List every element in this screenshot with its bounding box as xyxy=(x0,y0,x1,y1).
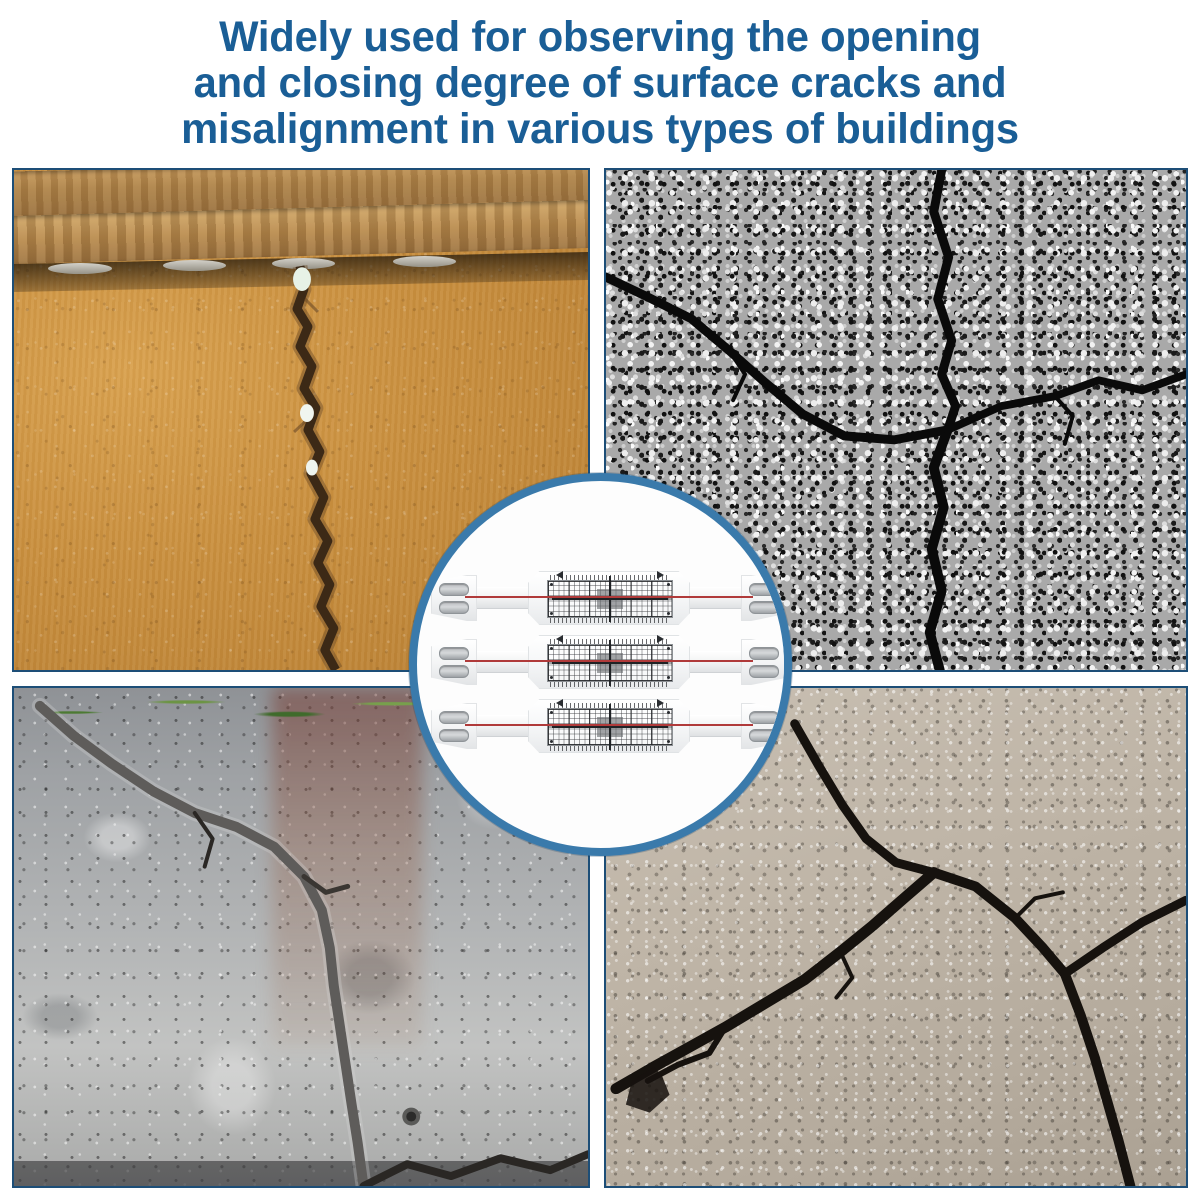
gauge-red-reference-line xyxy=(465,596,753,598)
gauge-ticks-bottom xyxy=(550,682,670,687)
gauge-corner-dot xyxy=(667,676,670,679)
gauge-arrow-left xyxy=(556,571,563,579)
mounting-slot xyxy=(749,647,779,660)
product-inset-circle xyxy=(409,473,792,856)
gauge-corner-dot xyxy=(550,740,553,743)
mounting-slot xyxy=(439,711,469,724)
product-marketing-image: Widely used for observing the opening an… xyxy=(0,0,1200,1200)
gauge-scale-plate xyxy=(547,644,673,682)
gauge-ticks-bottom xyxy=(550,746,670,751)
gauge-corner-dot xyxy=(550,647,553,650)
mounting-slot xyxy=(749,665,779,678)
headline-line-1: Widely used for observing the opening xyxy=(18,14,1182,60)
gauge-end-cap-right xyxy=(741,575,787,621)
gauge-corner-dot xyxy=(667,711,670,714)
gauge-corner-dot xyxy=(550,676,553,679)
gauge-body xyxy=(528,699,690,753)
gauge-scale-plate xyxy=(547,708,673,746)
page-title: Widely used for observing the opening an… xyxy=(18,14,1182,152)
headline-line-3: misalignment in various types of buildin… xyxy=(18,106,1182,152)
gauge-arrow-left xyxy=(556,699,563,707)
gauge-crosshair-vertical xyxy=(609,640,611,686)
crack-monitor-gauge xyxy=(431,569,787,625)
gauge-crosshair-vertical xyxy=(609,704,611,750)
gauge-body xyxy=(528,635,690,689)
gauge-red-reference-line xyxy=(465,660,753,662)
gauge-end-cap-left xyxy=(431,575,477,621)
mounting-slot xyxy=(439,665,469,678)
gauge-red-reference-line xyxy=(465,724,753,726)
gauge-end-cap-right xyxy=(741,639,787,685)
gauge-end-cap-left xyxy=(431,639,477,685)
mounting-slot xyxy=(439,583,469,596)
gauge-body xyxy=(528,571,690,625)
mounting-slot xyxy=(439,729,469,742)
gauge-corner-dot xyxy=(667,740,670,743)
mounting-slot xyxy=(439,647,469,660)
crack-monitor-gauge xyxy=(431,697,787,753)
gauge-arrow-right xyxy=(657,635,664,643)
mounting-slot xyxy=(749,583,779,596)
mounting-slot xyxy=(439,601,469,614)
gauge-arrow-right xyxy=(657,571,664,579)
gauge-corner-dot xyxy=(550,583,553,586)
mounting-slot xyxy=(749,729,779,742)
gauge-corner-dot xyxy=(667,583,670,586)
mounting-slot xyxy=(749,711,779,724)
gauge-corner-dot xyxy=(550,612,553,615)
gauge-arrow-left xyxy=(556,635,563,643)
headline-line-2: and closing degree of surface cracks and xyxy=(18,60,1182,106)
gauge-end-cap-left xyxy=(431,703,477,749)
gauge-ticks-top xyxy=(550,639,670,644)
crack-monitor-gauge xyxy=(431,633,787,689)
gauge-end-cap-right xyxy=(741,703,787,749)
gauge-arrow-right xyxy=(657,699,664,707)
gauge-ticks-bottom xyxy=(550,618,670,623)
gauge-corner-dot xyxy=(550,711,553,714)
gauge-corner-dot xyxy=(667,612,670,615)
mounting-slot xyxy=(749,601,779,614)
gauge-corner-dot xyxy=(667,647,670,650)
gauge-ticks-top xyxy=(550,575,670,580)
gauge-ticks-top xyxy=(550,703,670,708)
gauge-scale-plate xyxy=(547,580,673,618)
gauge-crosshair-vertical xyxy=(609,576,611,622)
